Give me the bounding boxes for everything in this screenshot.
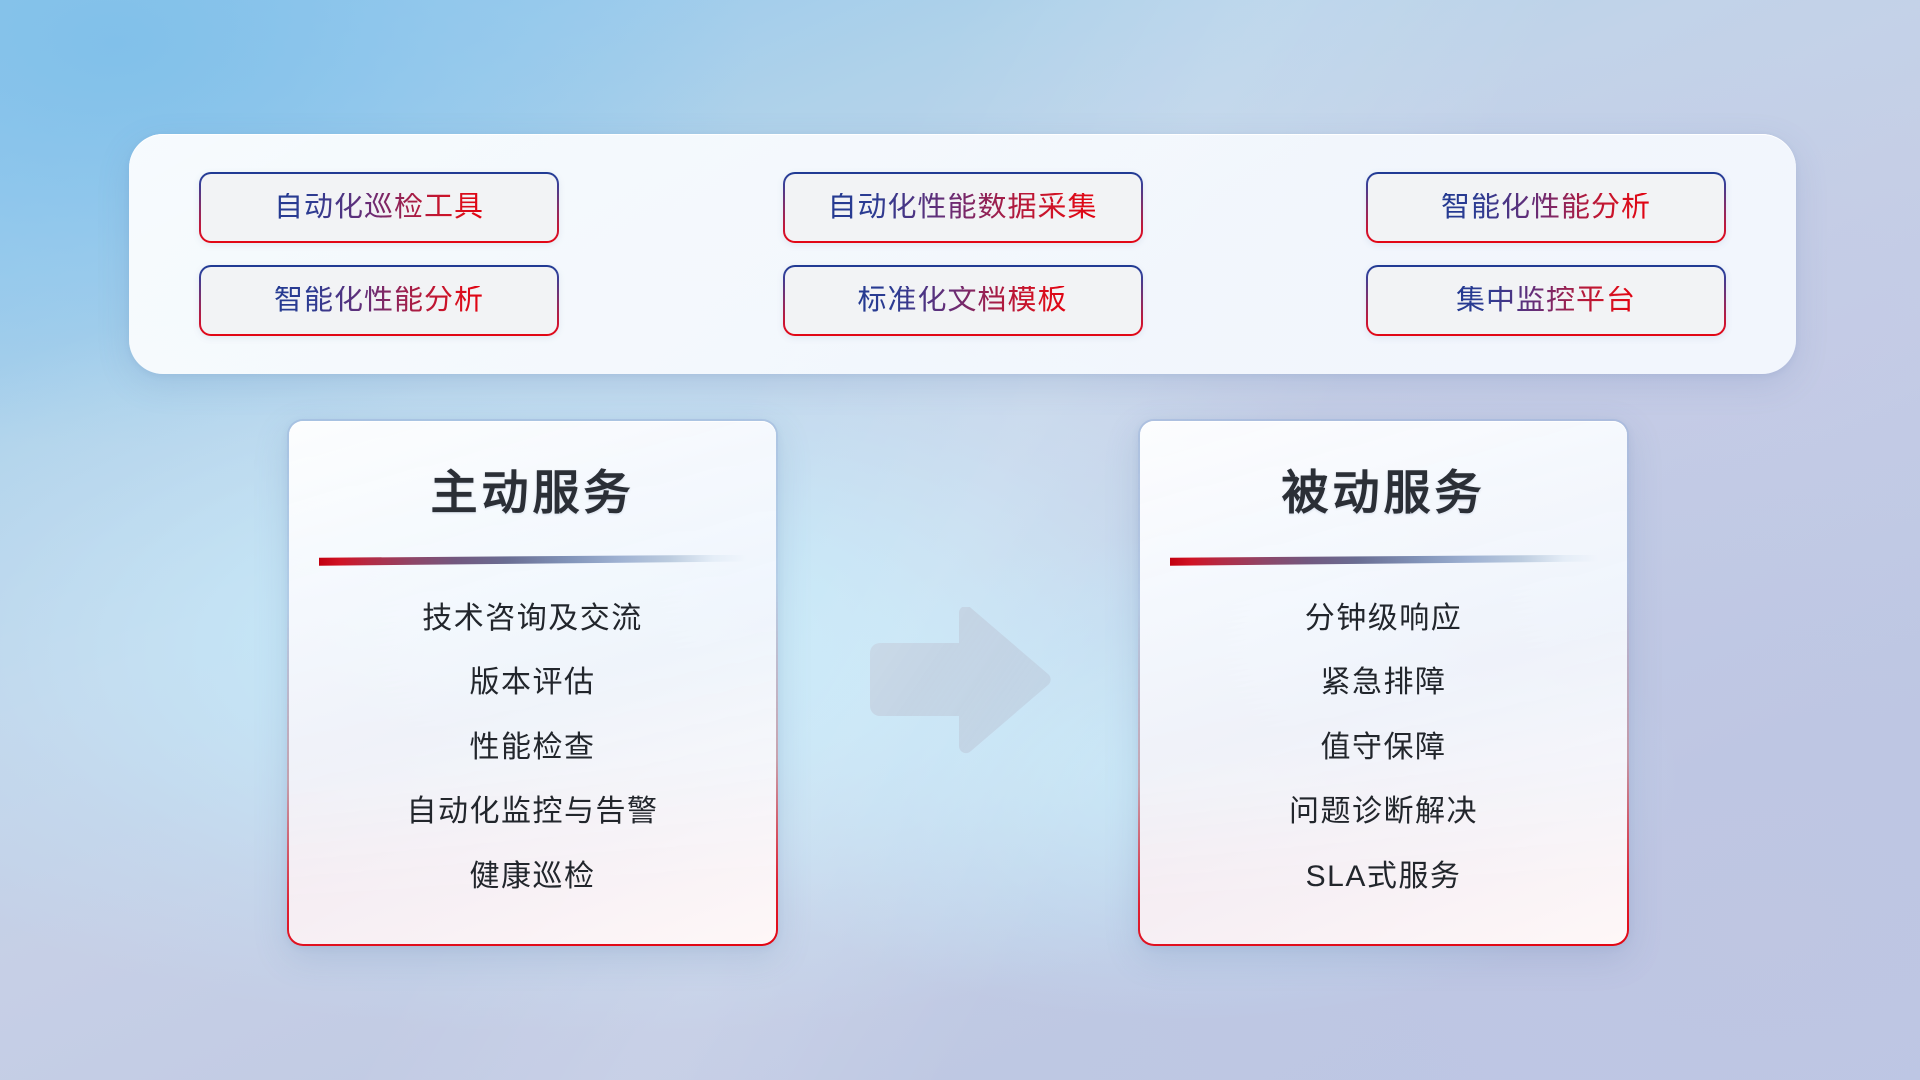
service-list-item: 健康巡检 — [470, 860, 596, 895]
service-card-passive: 被动服务 分钟级响应 紧急排障 值守保障 问题诊断解决 SLA式服务 — [1138, 419, 1629, 946]
service-list-item: 问题诊断解决 — [1289, 795, 1478, 830]
capability-chip-label: 智能化性能分析 — [274, 286, 484, 315]
card-divider — [1170, 555, 1598, 566]
service-list-item: SLA式服务 — [1306, 860, 1462, 895]
service-list-item: 紧急排障 — [1321, 666, 1447, 701]
capability-chip-label: 自动化性能数据采集 — [827, 193, 1097, 222]
capability-chip-standardized-doc-template[interactable]: 标准化文档模板 — [783, 265, 1143, 336]
card-divider — [319, 555, 747, 566]
service-card-title: 被动服务 — [1282, 467, 1486, 519]
service-list-item: 性能检查 — [470, 731, 596, 766]
card-divider-bar — [319, 555, 747, 566]
service-list-item: 技术咨询及交流 — [422, 602, 643, 637]
service-list-item: 版本评估 — [470, 666, 596, 701]
service-card-active: 主动服务 技术咨询及交流 版本评估 性能检查 自动化监控与告警 健康巡检 — [287, 419, 778, 946]
capability-chips-panel: 自动化巡检工具 自动化性能数据采集 智能化性能分析 智能化性能分析 标准化文档模… — [129, 134, 1796, 374]
card-divider-bar — [1170, 555, 1598, 566]
service-list-item: 值守保障 — [1321, 731, 1447, 766]
capability-row-2: 智能化性能分析 标准化文档模板 集中监控平台 — [199, 265, 1726, 336]
capability-chip-label: 智能化性能分析 — [1441, 193, 1651, 222]
capability-chip-centralized-monitoring-platform[interactable]: 集中监控平台 — [1366, 265, 1726, 336]
capability-row-1: 自动化巡检工具 自动化性能数据采集 智能化性能分析 — [199, 172, 1726, 243]
service-item-list: 技术咨询及交流 版本评估 性能检查 自动化监控与告警 健康巡检 — [317, 602, 748, 895]
capability-chip-intelligent-performance-analysis-2[interactable]: 智能化性能分析 — [199, 265, 559, 336]
capability-chip-automated-inspection-tool[interactable]: 自动化巡检工具 — [199, 172, 559, 243]
service-list-item: 分钟级响应 — [1305, 602, 1463, 637]
capability-chip-automated-performance-data-collection[interactable]: 自动化性能数据采集 — [783, 172, 1143, 243]
service-card-title: 主动服务 — [431, 467, 635, 519]
diagram-canvas: 自动化巡检工具 自动化性能数据采集 智能化性能分析 智能化性能分析 标准化文档模… — [0, 0, 1920, 1080]
arrow-right-icon — [862, 607, 1052, 757]
capability-chip-label: 自动化巡检工具 — [274, 193, 484, 222]
capability-chip-label: 集中监控平台 — [1456, 286, 1636, 315]
service-item-list: 分钟级响应 紧急排障 值守保障 问题诊断解决 SLA式服务 — [1168, 602, 1599, 895]
capability-chip-label: 标准化文档模板 — [857, 286, 1067, 315]
service-list-item: 自动化监控与告警 — [407, 795, 659, 830]
capability-chip-intelligent-performance-analysis[interactable]: 智能化性能分析 — [1366, 172, 1726, 243]
